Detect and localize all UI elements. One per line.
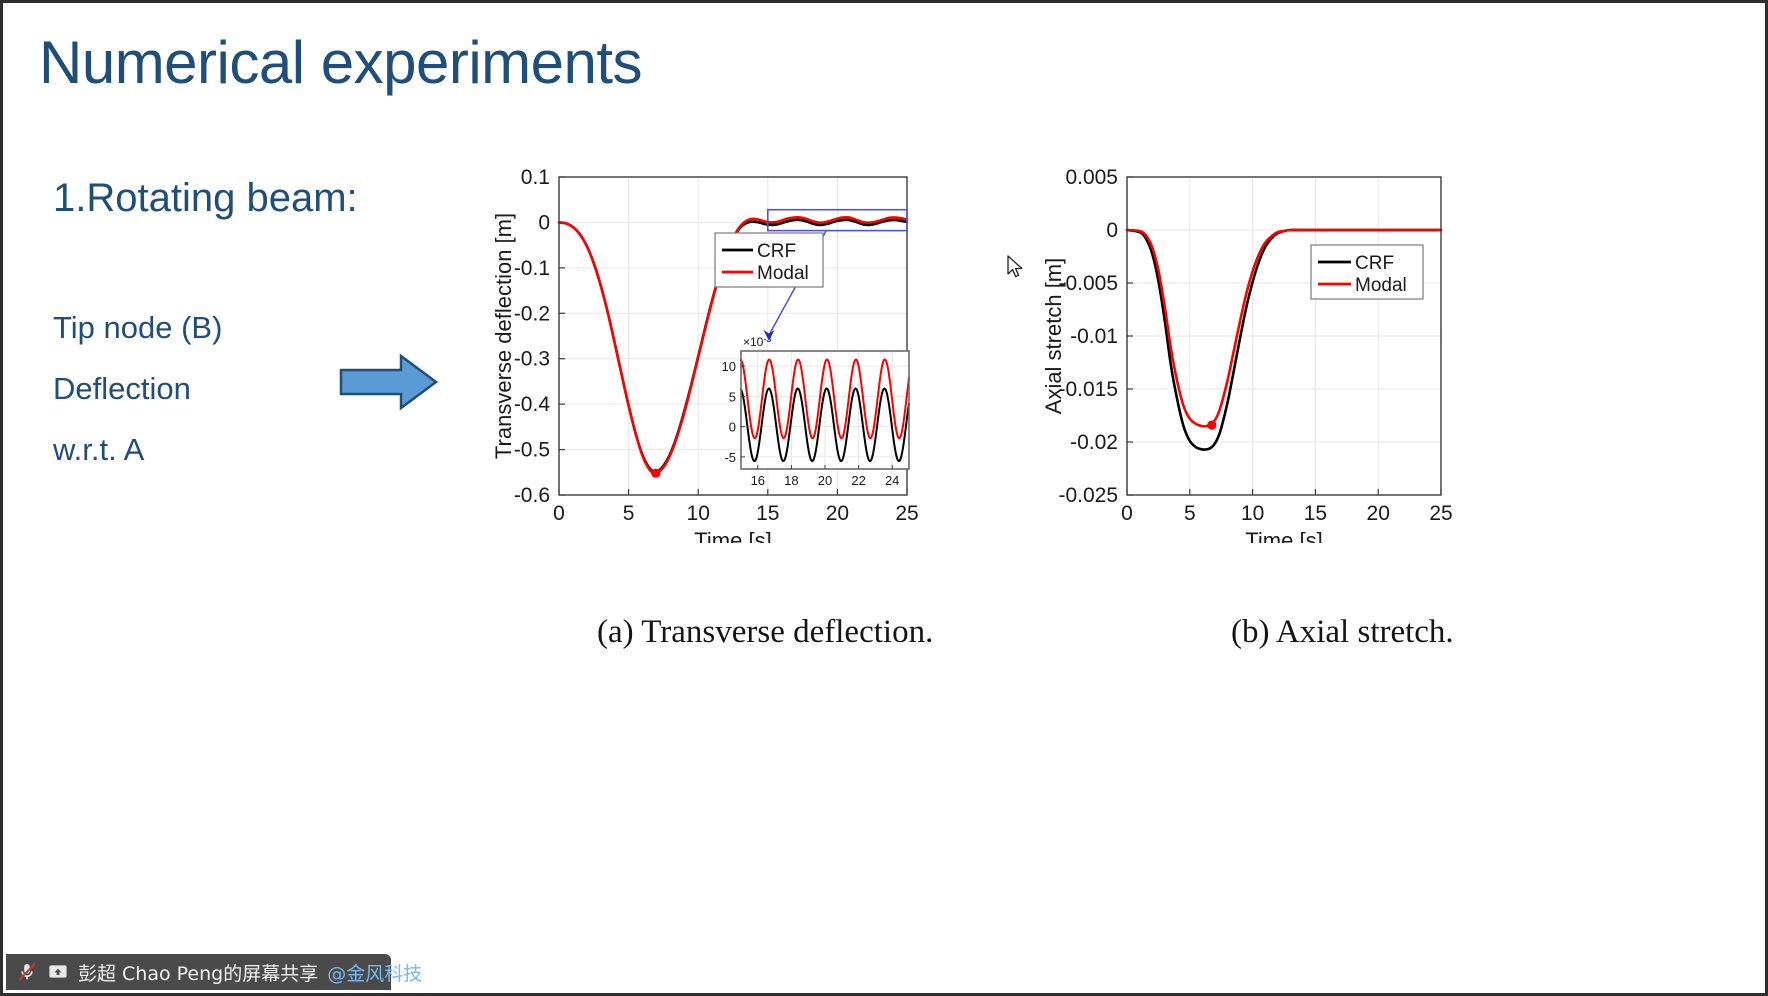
figure-caption-a: (a) Transverse deflection. (597, 614, 933, 651)
screen-share-icon[interactable] (47, 961, 69, 983)
microphone-muted-icon[interactable] (16, 961, 38, 983)
screenshare-taskbar[interactable]: 彭超 Chao Peng的屏幕共享 @金风科技 (6, 954, 391, 990)
svg-text:-0.015: -0.015 (1058, 378, 1118, 401)
chart-axial-stretch: 05101520250.0050-0.005-0.01-0.015-0.02-0… (1043, 163, 1463, 543)
svg-text:Transverse deflection [m]: Transverse deflection [m] (493, 213, 516, 459)
svg-text:0.1: 0.1 (521, 166, 550, 189)
svg-text:10: 10 (687, 502, 710, 525)
svg-text:-0.5: -0.5 (514, 439, 550, 462)
page-title: Numerical experiments (39, 31, 642, 94)
svg-text:-0.6: -0.6 (514, 484, 550, 507)
svg-text:15: 15 (756, 502, 779, 525)
svg-text:-0.3: -0.3 (514, 348, 550, 371)
mouse-pointer-icon (1007, 255, 1027, 281)
screenshare-org-tag: @金风科技 (327, 959, 422, 986)
svg-text:CRF: CRF (757, 241, 796, 262)
svg-text:0: 0 (538, 211, 550, 234)
svg-text:22: 22 (851, 473, 865, 488)
svg-text:-0.025: -0.025 (1058, 484, 1118, 507)
right-arrow-icon (339, 353, 439, 411)
svg-text:10: 10 (722, 359, 736, 374)
svg-text:CRF: CRF (1355, 253, 1394, 274)
svg-text:20: 20 (1367, 502, 1390, 525)
svg-text:0.005: 0.005 (1065, 166, 1118, 189)
svg-text:-0.01: -0.01 (1070, 325, 1118, 348)
svg-text:-0.4: -0.4 (514, 393, 551, 416)
svg-text:20: 20 (826, 502, 849, 525)
bullet-item-2: Deflection (53, 371, 191, 407)
svg-text:Time [s]: Time [s] (1245, 528, 1322, 543)
svg-text:Axial stretch [m]: Axial stretch [m] (1043, 258, 1066, 414)
screenshare-title: 彭超 Chao Peng的屏幕共享 (78, 959, 318, 986)
svg-text:10: 10 (1241, 502, 1264, 525)
svg-text:16: 16 (751, 473, 765, 488)
svg-text:-0.005: -0.005 (1058, 272, 1118, 295)
chart-transverse-deflection: 05101520250.10-0.1-0.2-0.3-0.4-0.5-0.6Ti… (493, 163, 953, 543)
svg-text:-5: -5 (724, 450, 736, 465)
section-subtitle: 1.Rotating beam: (53, 176, 358, 221)
svg-text:-0.2: -0.2 (514, 302, 550, 325)
svg-text:Modal: Modal (757, 263, 809, 284)
svg-text:25: 25 (1429, 502, 1452, 525)
figure-caption-b: (b) Axial stretch. (1231, 614, 1454, 651)
svg-text:15: 15 (1304, 502, 1327, 525)
bullet-item-3: w.r.t. A (53, 432, 144, 468)
svg-text:18: 18 (784, 473, 798, 488)
svg-text:5: 5 (623, 502, 635, 525)
svg-text:Modal: Modal (1355, 275, 1407, 296)
svg-text:0: 0 (1121, 502, 1133, 525)
svg-text:0: 0 (729, 420, 736, 435)
slide-canvas: Numerical experiments 1.Rotating beam: T… (0, 0, 1768, 996)
svg-text:0: 0 (553, 502, 565, 525)
svg-text:0: 0 (1106, 219, 1118, 242)
svg-text:25: 25 (895, 502, 918, 525)
bullet-item-1: Tip node (B) (53, 310, 222, 346)
svg-text:Time [s]: Time [s] (694, 528, 771, 543)
svg-text:-0.1: -0.1 (514, 257, 550, 280)
svg-text:5: 5 (1184, 502, 1196, 525)
svg-text:24: 24 (885, 473, 899, 488)
svg-text:20: 20 (818, 473, 832, 488)
svg-text:5: 5 (729, 389, 736, 404)
svg-text:-0.02: -0.02 (1070, 431, 1118, 454)
